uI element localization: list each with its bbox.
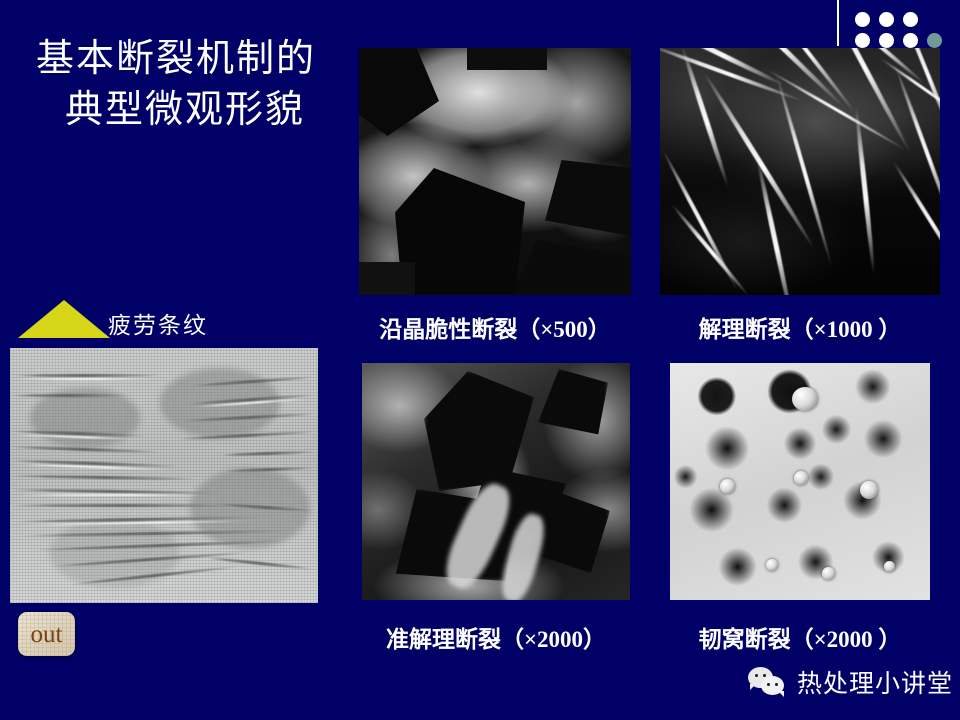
micrograph-quasi-cleavage bbox=[362, 363, 630, 600]
fracture-shadow bbox=[424, 371, 534, 491]
inclusion-particle bbox=[822, 567, 835, 580]
deco-dot-accent bbox=[927, 33, 942, 48]
wechat-eye bbox=[763, 674, 766, 677]
striation-line bbox=[10, 474, 200, 480]
micrograph-fatigue-surface bbox=[10, 348, 318, 603]
deco-dot-4 bbox=[855, 33, 870, 48]
deco-dot-1 bbox=[855, 12, 870, 27]
triangle-bullet-icon bbox=[18, 300, 110, 338]
inclusion-particle bbox=[884, 561, 895, 572]
deco-dot-5 bbox=[879, 33, 894, 48]
deco-dot-6 bbox=[903, 33, 918, 48]
micrograph-quasi-cleavage-surface bbox=[362, 363, 630, 600]
wechat-eye bbox=[775, 683, 778, 686]
caption-intergranular: 沿晶脆性断裂（×500） bbox=[359, 310, 631, 344]
wechat-bubble-tail bbox=[778, 691, 784, 697]
micrograph-intergranular bbox=[359, 48, 631, 295]
striation-line bbox=[12, 374, 162, 377]
river-pattern-line bbox=[755, 157, 795, 295]
fracture-shadow bbox=[538, 369, 608, 445]
wechat-icon bbox=[748, 667, 788, 697]
striation-line bbox=[220, 450, 316, 456]
inclusion-particle bbox=[860, 481, 878, 499]
grain-facet bbox=[509, 240, 631, 295]
title-line-1: 基本断裂机制的 bbox=[0, 34, 352, 85]
out-button-label: out bbox=[31, 622, 63, 647]
micrograph-dimple-surface bbox=[670, 363, 930, 600]
deco-dot-3 bbox=[903, 12, 918, 27]
slide-canvas: 基本断裂机制的 典型微观形貌 沿晶脆性断裂（×500） bbox=[0, 0, 960, 720]
grain-facet bbox=[545, 160, 631, 244]
caption-cleavage: 解理断裂（×1000 ） bbox=[660, 310, 940, 344]
grain-facet bbox=[467, 48, 547, 70]
watermark: 热处理小讲堂 bbox=[748, 664, 953, 700]
river-pattern-line bbox=[891, 160, 940, 281]
wechat-eye bbox=[767, 683, 770, 686]
out-button[interactable]: out bbox=[18, 612, 75, 656]
grain-facet bbox=[359, 262, 415, 295]
caption-fatigue-striation: 疲劳条纹 bbox=[108, 306, 208, 340]
micrograph-cleavage-surface bbox=[660, 48, 940, 295]
caption-quasi-cleavage: 准解理断裂（×2000） bbox=[362, 620, 630, 654]
striation-line bbox=[10, 504, 240, 507]
inclusion-particle bbox=[794, 471, 808, 485]
inclusion-particle bbox=[766, 559, 778, 571]
striation-highlight bbox=[12, 494, 212, 496]
striation-line bbox=[10, 394, 130, 397]
micrograph-dimple bbox=[670, 363, 930, 600]
micrograph-cleavage bbox=[660, 48, 940, 295]
watermark-label: 热处理小讲堂 bbox=[797, 664, 953, 700]
wechat-bubble-tail bbox=[750, 684, 756, 690]
decorative-dot-grid bbox=[855, 12, 945, 48]
decorative-vertical-rule bbox=[837, 0, 839, 46]
inclusion-particle bbox=[720, 479, 735, 494]
micrograph-intergranular-surface bbox=[359, 48, 631, 295]
caption-dimple: 韧窝断裂（×2000 ） bbox=[670, 620, 930, 654]
title-line-2: 典型微观形貌 bbox=[0, 85, 352, 136]
wechat-eye bbox=[755, 674, 758, 677]
page-title: 基本断裂机制的 典型微观形貌 bbox=[0, 34, 352, 137]
deco-dot-2 bbox=[879, 12, 894, 27]
inclusion-particle bbox=[792, 387, 818, 411]
striation-highlight bbox=[14, 378, 154, 380]
river-pattern-line bbox=[670, 203, 750, 295]
grain-facet bbox=[359, 48, 439, 136]
micrograph-fatigue-striation bbox=[10, 348, 318, 603]
